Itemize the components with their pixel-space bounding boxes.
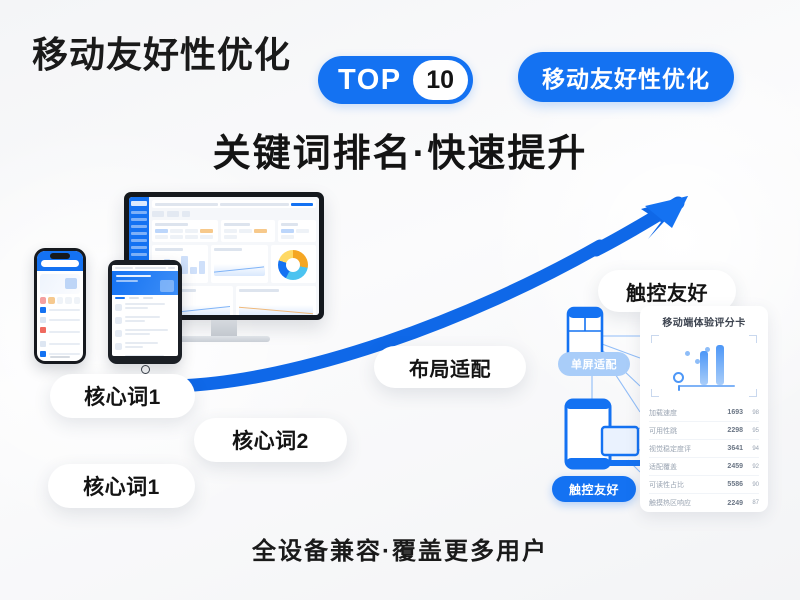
- tablet-mockup: [108, 260, 182, 374]
- tablet-list: [112, 301, 178, 356]
- phone-result-list: [37, 307, 83, 361]
- phone-home-indicator: [50, 356, 70, 358]
- score-row-value: 5586: [717, 481, 743, 488]
- illustration-pill-soft: 单屏适配: [558, 352, 630, 376]
- phone-screen: [37, 251, 83, 361]
- phone-bezel: [34, 248, 86, 364]
- table-row: 加载速度 1693 98: [649, 404, 759, 422]
- score-row-pct: 92: [743, 464, 759, 470]
- score-row-name: 可用性跳: [649, 426, 717, 436]
- page-subtitle: 关键词排名·快速提升: [0, 122, 800, 177]
- score-row-name: 可读性占比: [649, 480, 717, 490]
- table-row: 触摸热区响应 2249 87: [649, 494, 759, 512]
- header-tag-pill: 移动友好性优化: [518, 52, 734, 102]
- tablet-home-button: [141, 365, 150, 374]
- phone-notch: [50, 253, 70, 259]
- table-row: 视觉稳定度评 3641 94: [649, 440, 759, 458]
- score-row-value: 3641: [717, 445, 743, 452]
- mobile-experience-illustration: 单屏适配 触控友好 移动端体验评分卡 加载速度: [540, 300, 790, 515]
- tablet-bezel: [108, 260, 182, 364]
- top-badge-word: TOP: [338, 66, 402, 95]
- score-row-pct: 94: [743, 446, 759, 452]
- page-title: 移动友好性优化: [32, 26, 291, 78]
- score-row-name: 加载速度: [649, 408, 717, 418]
- dashboard-card-row-1: [152, 220, 316, 242]
- score-row-value: 2249: [717, 500, 743, 507]
- magnifier-icon: [673, 372, 684, 383]
- phone-search-bar: [37, 260, 83, 271]
- dashboard-tabs: [152, 211, 316, 217]
- phone-mockup: [34, 248, 86, 364]
- device-mockup-group: [26, 192, 326, 382]
- donut-chart-card: [271, 245, 316, 283]
- score-card-hero-chart: [651, 335, 757, 397]
- table-row: 可读性占比 5586 90: [649, 476, 759, 494]
- score-row-name: 触摸热区响应: [649, 498, 717, 508]
- phone-quick-chips: [37, 297, 83, 307]
- score-row-pct: 90: [743, 482, 759, 488]
- keyword-pill-2: 核心词2: [194, 418, 347, 462]
- monitor-base: [178, 336, 270, 342]
- illustration-pill-solid: 触控友好: [552, 476, 636, 502]
- footer-tagline: 全设备兼容·覆盖更多用户: [0, 531, 800, 566]
- keyword-pill-3: 核心词1: [48, 464, 195, 508]
- score-card-rows: 加载速度 1693 98 可用性跳 2298 95 视觉稳定度评 3641 94…: [649, 404, 759, 512]
- dashboard-topbar: [152, 200, 316, 208]
- mobile-score-card: 移动端体验评分卡 加载速度 1693 98: [640, 306, 768, 512]
- table-row: 可用性跳 2298 95: [649, 422, 759, 440]
- score-row-pct: 98: [743, 410, 759, 416]
- score-row-value: 2459: [717, 463, 743, 470]
- score-row-value: 2298: [717, 427, 743, 434]
- score-row-name: 适配覆盖: [649, 462, 717, 472]
- donut-chart: [278, 250, 308, 280]
- callout-layout-adaptation: 布局适配: [374, 346, 526, 388]
- top-badge-number: 10: [413, 60, 468, 100]
- keyword-pill-1: 核心词1: [50, 374, 195, 418]
- tablet-promo-banner: [112, 271, 178, 295]
- top-rank-badge: TOP 10: [318, 56, 473, 104]
- score-card-title: 移动端体验评分卡: [649, 314, 759, 329]
- monitor-neck: [211, 320, 237, 336]
- table-row: 适配覆盖 2459 92: [649, 458, 759, 476]
- score-row-pct: 95: [743, 428, 759, 434]
- score-row-pct: 87: [743, 500, 759, 506]
- tablet-screen: [112, 265, 178, 356]
- phone-feature-card: [40, 274, 80, 294]
- score-row-value: 1693: [717, 409, 743, 416]
- poster-canvas: 移动友好性优化 TOP 10 移动友好性优化 关键词排名·快速提升: [0, 0, 800, 600]
- score-row-name: 视觉稳定度评: [649, 444, 717, 454]
